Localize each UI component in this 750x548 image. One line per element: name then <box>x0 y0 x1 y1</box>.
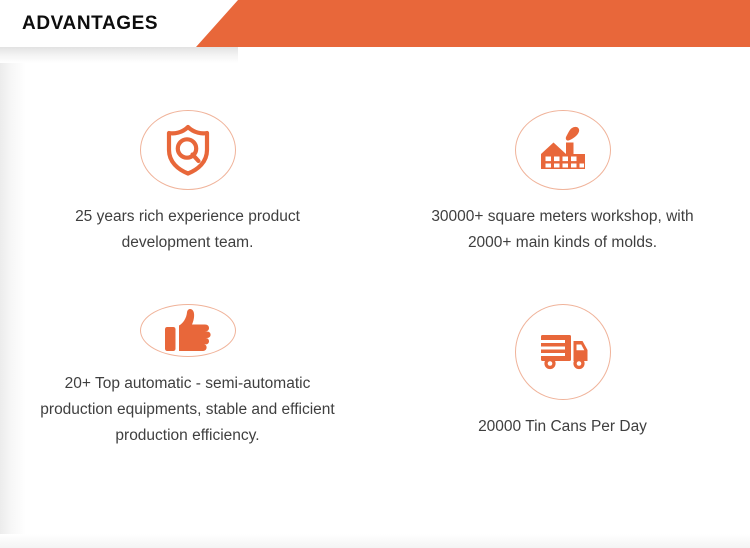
header-drop-shadow <box>0 47 750 63</box>
shield-quality-icon <box>140 110 236 190</box>
advantage-card-quality: 25 years rich experience product develop… <box>0 63 375 256</box>
delivery-truck-icon <box>515 304 611 400</box>
advantage-card-capacity: 20000 Tin Cans Per Day <box>375 256 750 449</box>
header-shadow-mask <box>238 47 750 63</box>
thumbs-up-icon <box>140 304 236 357</box>
advantages-page: ADVANTAGES 25 years rich experience prod… <box>0 0 750 548</box>
advantage-text: 20+ Top automatic - semi-automatic produ… <box>38 371 338 449</box>
advantage-text: 20000 Tin Cans Per Day <box>413 414 713 440</box>
factory-icon <box>515 110 611 190</box>
advantage-text: 25 years rich experience product develop… <box>38 204 338 256</box>
advantages-grid: 25 years rich experience product develop… <box>0 63 750 533</box>
advantage-card-equipment: 20+ Top automatic - semi-automatic produ… <box>0 256 375 449</box>
section-header-banner: ADVANTAGES <box>0 0 750 47</box>
page-bottom-edge-shading <box>0 534 750 548</box>
page-title: ADVANTAGES <box>22 0 158 47</box>
advantage-card-workshop: 30000+ square meters workshop, with 2000… <box>375 63 750 256</box>
advantage-text: 30000+ square meters workshop, with 2000… <box>413 204 713 256</box>
